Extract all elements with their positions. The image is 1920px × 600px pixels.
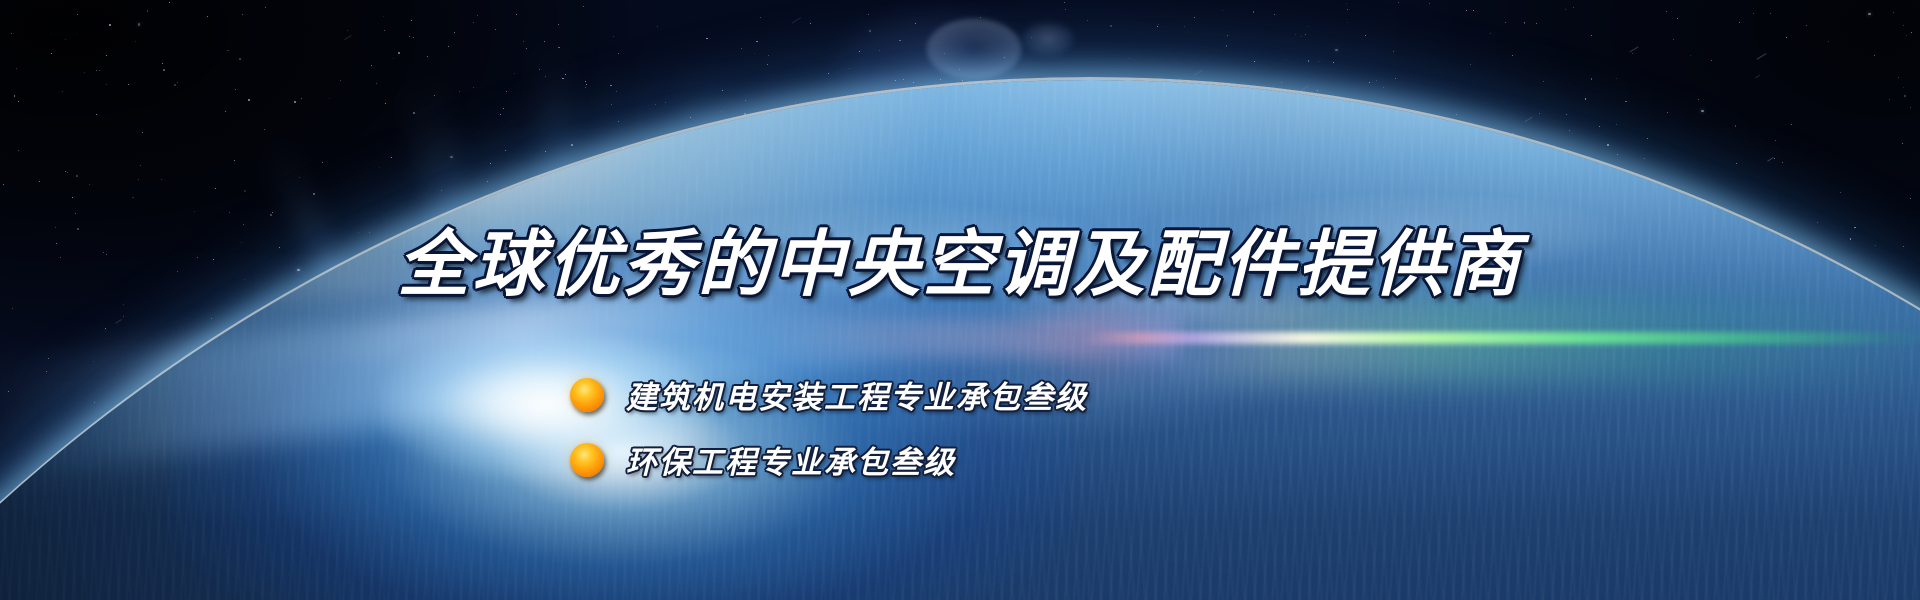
bullet-item-2: 环保工程专业承包叁级 xyxy=(570,437,1088,482)
bullet-item-1: 建筑机电安装工程专业承包叁级 xyxy=(570,372,1088,417)
bullet-item-2-label: 环保工程专业承包叁级 xyxy=(626,437,956,482)
bullet-dot-icon xyxy=(570,378,604,412)
banner-bullet-list: 建筑机电安装工程专业承包叁级 环保工程专业承包叁级 xyxy=(570,372,1088,482)
bullet-dot-icon xyxy=(570,443,604,477)
hero-banner: 全球优秀的中央空调及配件提供商 建筑机电安装工程专业承包叁级 环保工程专业承包叁… xyxy=(0,0,1920,600)
banner-headline: 全球优秀的中央空调及配件提供商 xyxy=(0,205,1920,310)
bullet-item-1-label: 建筑机电安装工程专业承包叁级 xyxy=(626,372,1088,417)
banner-content: 全球优秀的中央空调及配件提供商 建筑机电安装工程专业承包叁级 环保工程专业承包叁… xyxy=(0,0,1920,600)
